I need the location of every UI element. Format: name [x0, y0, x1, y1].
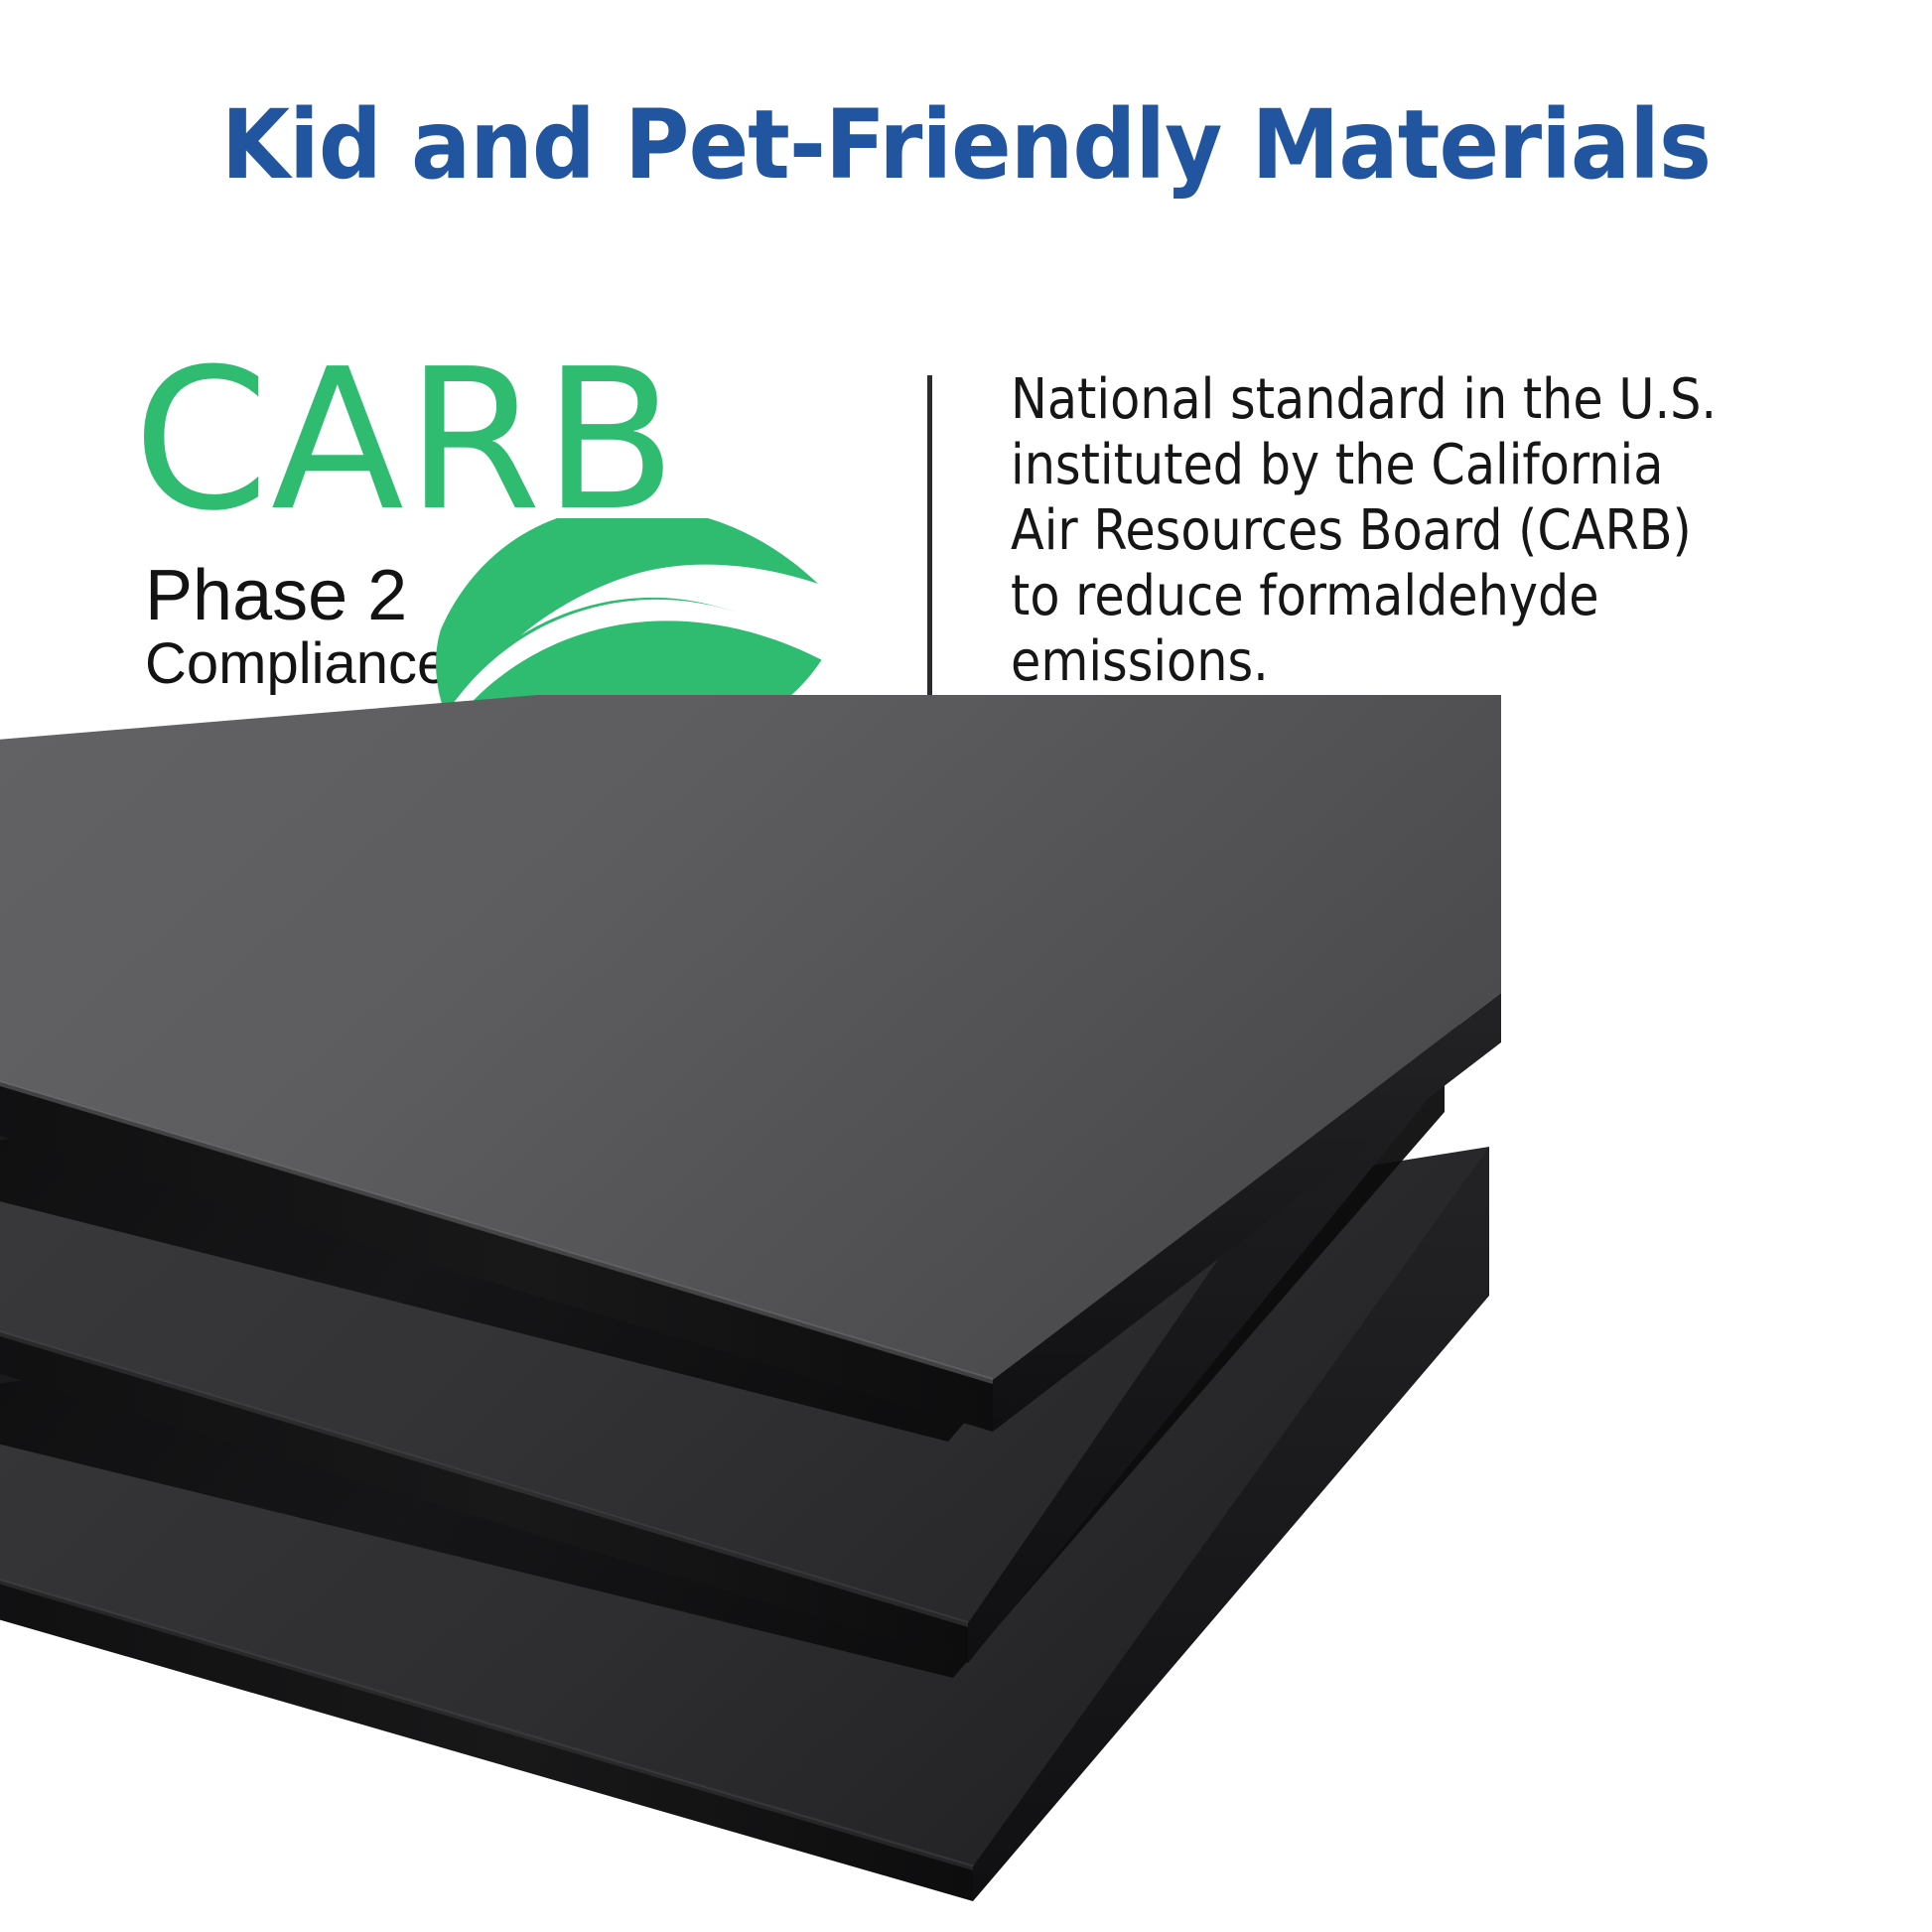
page-title: Kid and Pet-Friendly Materials — [68, 95, 1864, 196]
carb-badge: CARB Phase 2 Compliance — [127, 349, 862, 707]
description-line: instituted by the California — [1011, 433, 1735, 498]
stacked-black-panels-illustration — [0, 695, 1932, 1932]
description-line: Air Resources Board (CARB) — [1011, 498, 1735, 564]
divider — [927, 375, 932, 705]
description-line: to reduce formaldehyde — [1011, 564, 1735, 629]
description-text: National standard in the U.S. instituted… — [1011, 367, 1735, 695]
product-photo — [0, 695, 1932, 1932]
poster-canvas: Kid and Pet-Friendly Materials CARB Phas… — [0, 0, 1932, 1932]
description-line: National standard in the U.S. — [1011, 367, 1735, 433]
carb-compliance-label: Compliance — [145, 635, 449, 693]
carb-phase-label: Phase 2 — [145, 560, 407, 631]
carb-wordmark: CARB — [133, 344, 679, 538]
description-line: emissions. — [1011, 629, 1735, 695]
